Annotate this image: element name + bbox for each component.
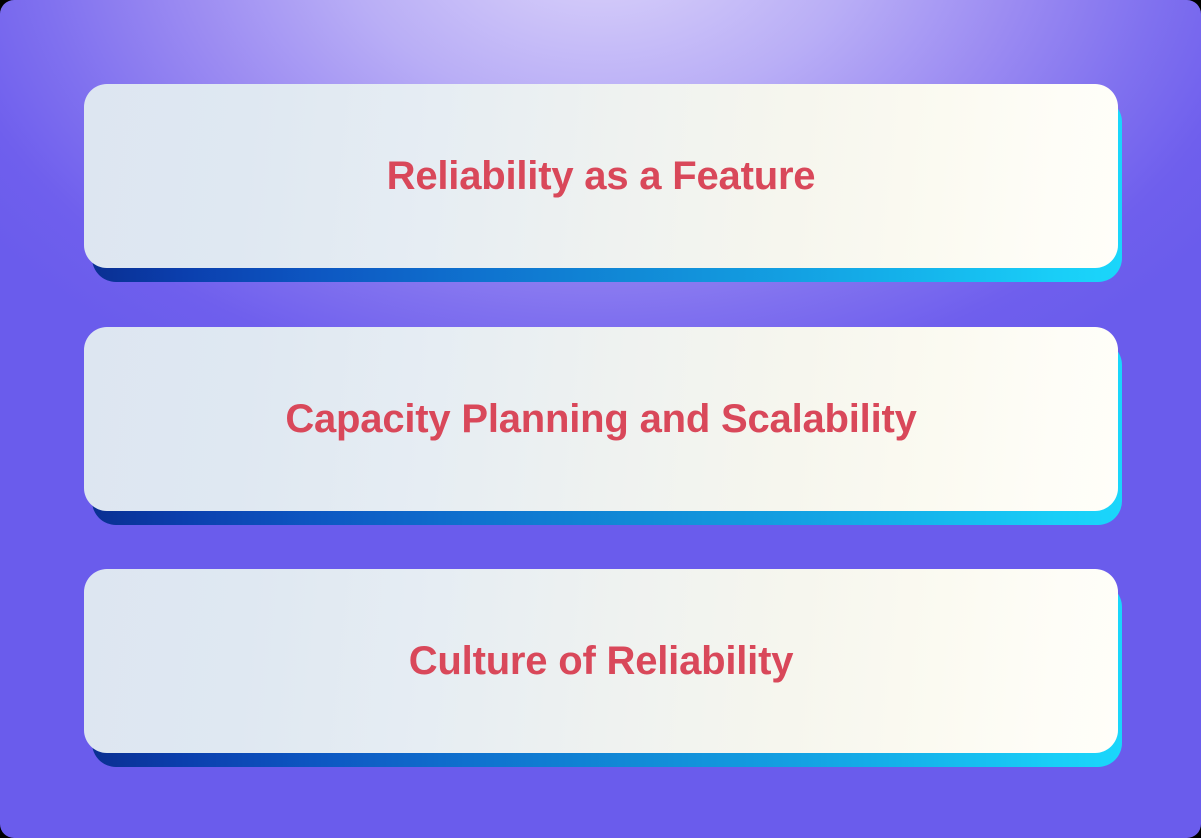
card-title-3: Culture of Reliability — [409, 638, 794, 684]
card-list: Reliability as a Feature Capacity Planni… — [84, 84, 1122, 756]
card-title-2: Capacity Planning and Scalability — [285, 396, 916, 442]
card-face-3[interactable]: Culture of Reliability — [84, 569, 1118, 753]
card-title-1: Reliability as a Feature — [387, 153, 816, 199]
list-item-card-1[interactable]: Reliability as a Feature — [84, 84, 1122, 271]
list-item-card-3[interactable]: Culture of Reliability — [84, 569, 1122, 756]
slide-root: Reliability as a Feature Capacity Planni… — [0, 0, 1201, 838]
card-face-2[interactable]: Capacity Planning and Scalability — [84, 327, 1118, 511]
card-face-1[interactable]: Reliability as a Feature — [84, 84, 1118, 268]
list-item-card-2[interactable]: Capacity Planning and Scalability — [84, 327, 1122, 514]
